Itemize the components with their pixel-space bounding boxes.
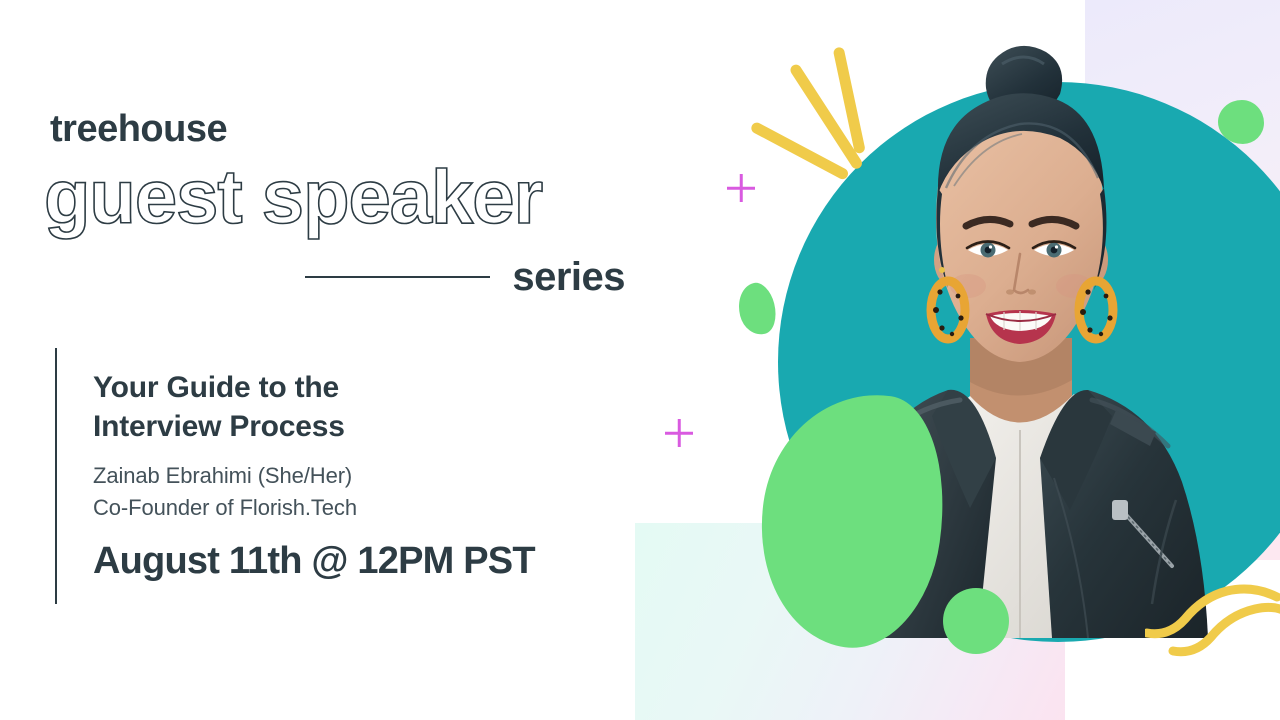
green-blob-small	[733, 279, 781, 338]
series-label: series	[512, 255, 625, 300]
green-circle-dot	[943, 588, 1009, 654]
series-row: series	[305, 252, 625, 302]
vertical-accent-rule	[55, 348, 57, 604]
promo-banner: treehouse guest speaker series Your Guid…	[0, 0, 1280, 720]
series-divider	[305, 276, 490, 278]
talk-title: Your Guide to the Interview Process	[93, 368, 613, 446]
yellow-wave-lines-icon	[1145, 575, 1280, 685]
green-blob-top-right	[1218, 100, 1264, 144]
speaker-role: Co-Founder of Florish.Tech	[93, 492, 613, 524]
event-details: Your Guide to the Interview Process Zain…	[55, 348, 615, 604]
magenta-plus-icon	[727, 174, 755, 202]
magenta-plus-icon	[665, 419, 693, 447]
talk-title-line-2: Interview Process	[93, 407, 613, 446]
event-datetime: August 11th @ 12PM PST	[93, 540, 613, 583]
speaker-name: Zainab Ebrahimi (She/Her)	[93, 460, 613, 492]
page-title: guest speaker	[44, 160, 542, 236]
brand-name: treehouse	[50, 108, 227, 151]
talk-title-line-1: Your Guide to the	[93, 368, 613, 407]
